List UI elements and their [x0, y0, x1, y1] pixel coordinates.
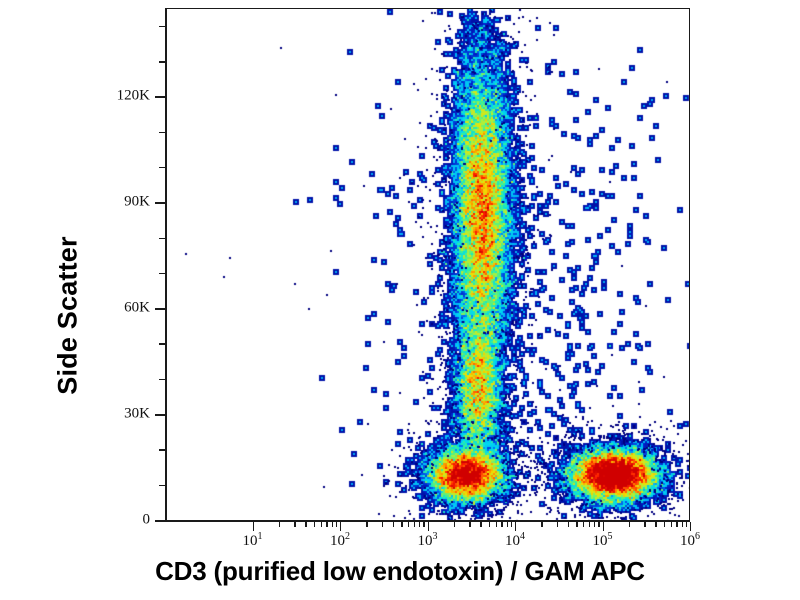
- x-tick-minor: [366, 522, 367, 527]
- x-tick-minor: [576, 522, 577, 527]
- x-tick-minor: [414, 522, 415, 527]
- x-axis-title: CD3 (purified low endotoxin) / GAM APC: [0, 556, 800, 587]
- x-tick-minor: [489, 522, 490, 527]
- x-tick-minor: [676, 522, 677, 527]
- x-tick-minor: [393, 522, 394, 527]
- x-tick-label: 103: [418, 531, 438, 550]
- y-tick-major: [155, 308, 165, 310]
- x-tick-label: 104: [505, 531, 525, 550]
- y-tick-major: [155, 202, 165, 204]
- x-tick-minor: [321, 522, 322, 527]
- x-tick-minor: [336, 522, 337, 527]
- y-tick-label: 0: [143, 512, 151, 529]
- x-tick-major: [690, 522, 691, 531]
- x-tick-minor: [496, 522, 497, 527]
- x-tick-minor: [332, 522, 333, 527]
- x-tick-minor: [541, 522, 542, 527]
- y-tick-minor: [159, 167, 165, 169]
- x-tick-minor: [598, 522, 599, 527]
- x-tick-minor: [557, 522, 558, 527]
- y-tick-label: 60K: [124, 300, 150, 317]
- x-tick-minor: [401, 522, 402, 527]
- y-axis-title: Side Scatter: [53, 186, 84, 446]
- y-tick-major: [155, 96, 165, 98]
- x-tick-minor: [326, 522, 327, 527]
- x-tick-minor: [408, 522, 409, 527]
- y-tick-label: 30K: [124, 406, 150, 423]
- y-tick-label: 90K: [124, 194, 150, 211]
- x-tick-minor: [480, 522, 481, 527]
- y-tick-minor: [159, 273, 165, 275]
- x-tick-minor: [664, 522, 665, 527]
- y-tick-minor: [159, 132, 165, 134]
- x-tick-minor: [469, 522, 470, 527]
- y-tick-major: [155, 414, 165, 416]
- x-tick-major: [603, 522, 604, 531]
- y-tick-minor: [159, 449, 165, 451]
- x-tick-minor: [511, 522, 512, 527]
- x-tick-minor: [682, 522, 683, 527]
- x-tick-minor: [454, 522, 455, 527]
- x-tick-minor: [501, 522, 502, 527]
- y-tick-major: [155, 520, 165, 522]
- plot-area: [165, 8, 690, 520]
- x-tick-minor: [629, 522, 630, 527]
- x-tick-minor: [419, 522, 420, 527]
- x-tick-minor: [671, 522, 672, 527]
- x-tick-minor: [279, 522, 280, 527]
- x-tick-minor: [568, 522, 569, 527]
- x-tick-major: [428, 522, 429, 531]
- x-tick-minor: [382, 522, 383, 527]
- x-tick-minor: [655, 522, 656, 527]
- y-tick-minor: [159, 343, 165, 345]
- x-tick-minor: [507, 522, 508, 527]
- x-tick-minor: [589, 522, 590, 527]
- x-tick-minor: [423, 522, 424, 527]
- flow-cytometry-figure: 101102103104105106 030K60K90K120K Side S…: [0, 0, 800, 600]
- x-tick-major: [340, 522, 341, 531]
- y-tick-minor: [159, 238, 165, 240]
- x-tick-major: [515, 522, 516, 531]
- y-tick-minor: [159, 485, 165, 487]
- scatter-density-canvas: [167, 9, 690, 520]
- y-tick-minor: [159, 26, 165, 28]
- x-tick-major: [253, 522, 254, 531]
- x-tick-minor: [594, 522, 595, 527]
- y-tick-minor: [159, 379, 165, 381]
- x-tick-minor: [644, 522, 645, 527]
- x-tick-minor: [686, 522, 687, 527]
- y-tick-minor: [159, 61, 165, 63]
- x-tick-label: 106: [680, 531, 700, 550]
- x-tick-minor: [294, 522, 295, 527]
- x-tick-minor: [314, 522, 315, 527]
- x-tick-label: 105: [593, 531, 613, 550]
- x-tick-label: 102: [330, 531, 350, 550]
- x-tick-label: 101: [243, 531, 263, 550]
- x-tick-minor: [305, 522, 306, 527]
- x-tick-minor: [583, 522, 584, 527]
- y-tick-label: 120K: [117, 88, 150, 105]
